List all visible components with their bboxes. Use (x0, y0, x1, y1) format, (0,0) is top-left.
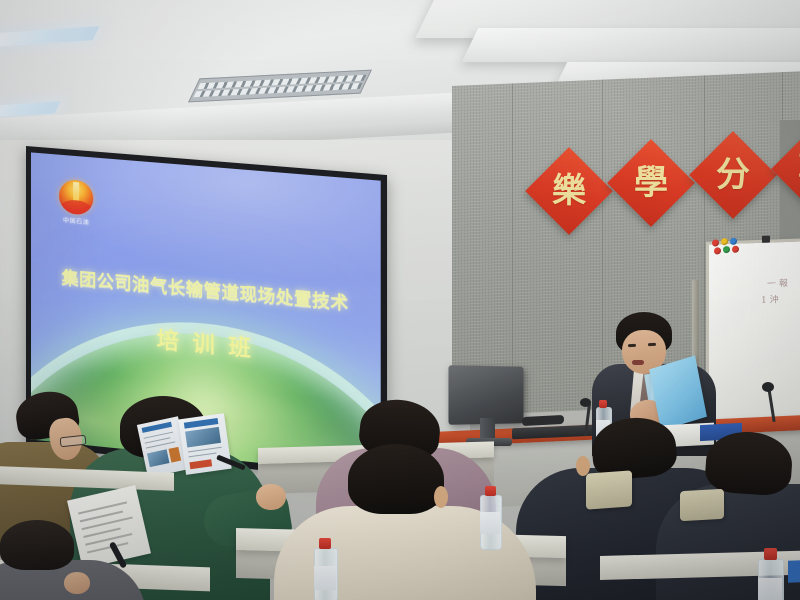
petrochina-logo-text: 中国石油 (57, 215, 95, 227)
bottle-cap-icon (319, 538, 331, 549)
mouth-icon (632, 360, 644, 365)
water-bottle (758, 548, 782, 600)
brochure-right-page (178, 413, 231, 475)
placard-character: 學 (634, 166, 668, 200)
whiteboard-surface: 一 報 1 沖 (706, 238, 800, 424)
bottle-cap-icon (764, 548, 777, 560)
attendee-gray-foreground (0, 520, 130, 600)
attendee-hair (0, 520, 74, 570)
mic-head-icon (762, 382, 774, 392)
chair-back (586, 470, 632, 509)
bottle-cap-icon (485, 486, 496, 496)
eye-icon (648, 343, 656, 346)
recessed-light-panel-icon (0, 26, 100, 48)
water-bottle (314, 538, 336, 600)
chair-back (680, 489, 724, 521)
petrochina-sun-icon (59, 179, 93, 216)
whiteboard-ink: 1 沖 (761, 292, 779, 306)
attendee-hair (348, 444, 444, 514)
attendee-hand (256, 484, 286, 510)
mic-head-icon (580, 398, 591, 407)
eye-icon (628, 344, 636, 348)
ceiling-coffer (462, 28, 800, 62)
whiteboard-ink: 一 報 (767, 276, 788, 290)
blue-folder (788, 559, 800, 582)
petrochina-logo: 中国石油 (57, 179, 95, 228)
bottle-cap-icon (599, 400, 607, 408)
water-bottle (480, 486, 500, 548)
placard-character: 分 (716, 158, 750, 192)
air-diffuser-grille-icon (188, 70, 372, 103)
whiteboard-clip (762, 236, 770, 243)
placard-character: 樂 (552, 174, 586, 208)
attendee-hand (64, 572, 90, 594)
classroom-photograph: 中国石油 集团公司油气长输管道现场处置技术 培训班 樂 學 分 享 一 報 1 … (0, 0, 800, 600)
attendee-hair (704, 429, 794, 497)
ear-icon (434, 486, 448, 508)
